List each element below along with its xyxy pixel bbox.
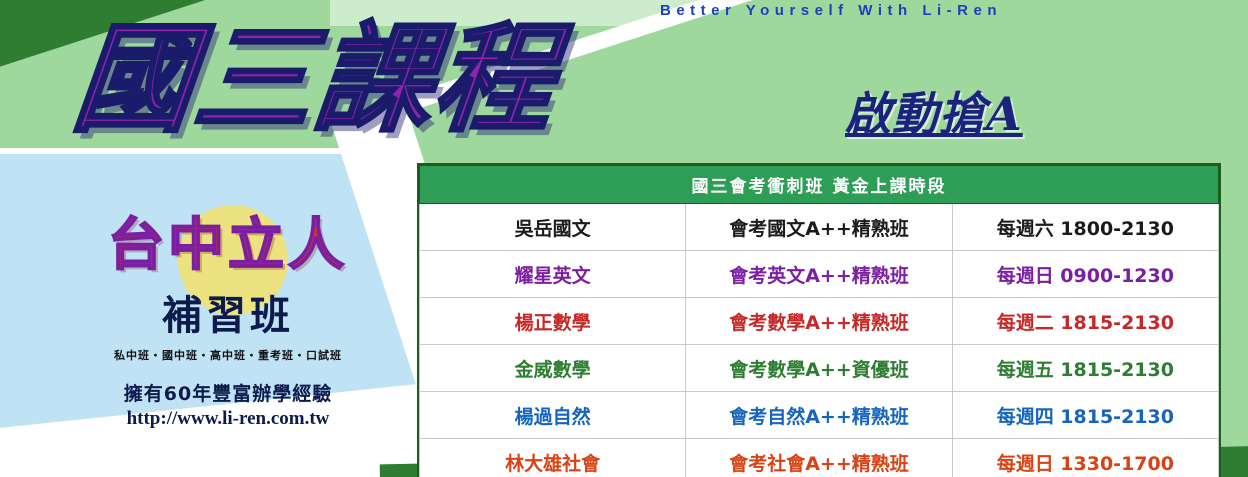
table-row: 林大雄社會會考社會A++精熟班每週日 1330-1700 [420, 439, 1219, 477]
logo-website-url[interactable]: http://www.li-ren.com.tw [28, 408, 428, 430]
logo-experience: 擁有60年豐富辦學經驗 [28, 379, 428, 406]
poster-canvas: Better Yourself With Li-Ren 國三課程 啟動搶A 台中… [0, 0, 1248, 477]
logo-name-line1: 台中立人 [28, 200, 428, 281]
table-cell-time: 每週六 1800-2130 [952, 204, 1218, 251]
table-cell-teacher: 金威數學 [420, 345, 686, 392]
schedule-table-container: 國三會考衝刺班 黃金上課時段 吳岳國文會考國文A++精熟班每週六 1800-21… [417, 163, 1221, 477]
page-subtitle: 啟動搶A [845, 78, 1023, 144]
table-cell-teacher: 楊正數學 [420, 298, 686, 345]
table-header-row: 國三會考衝刺班 黃金上課時段 [420, 166, 1219, 204]
table-cell-time: 每週五 1815-2130 [952, 345, 1218, 392]
table-cell-teacher: 林大雄社會 [420, 439, 686, 477]
logo-name-line2: 補習班 [28, 283, 428, 341]
table-cell-time: 每週日 0900-1230 [952, 251, 1218, 298]
table-cell-course: 會考數學A++精熟班 [686, 298, 952, 345]
table-cell-teacher: 耀星英文 [420, 251, 686, 298]
table-cell-teacher: 吳岳國文 [420, 204, 686, 251]
table-row: 耀星英文會考英文A++精熟班每週日 0900-1230 [420, 251, 1219, 298]
table-cell-course: 會考自然A++精熟班 [686, 392, 952, 439]
table-cell-course: 會考數學A++資優班 [686, 345, 952, 392]
table-cell-course: 會考國文A++精熟班 [686, 204, 952, 251]
table-cell-time: 每週日 1330-1700 [952, 439, 1218, 477]
schedule-table-body: 吳岳國文會考國文A++精熟班每週六 1800-2130耀星英文會考英文A++精熟… [420, 204, 1219, 477]
table-row: 吳岳國文會考國文A++精熟班每週六 1800-2130 [420, 204, 1219, 251]
table-row: 楊正數學會考數學A++精熟班每週二 1815-2130 [420, 298, 1219, 345]
table-cell-teacher: 楊過自然 [420, 392, 686, 439]
logo-class-list: 私中班・國中班・高中班・重考班・口試班 [28, 347, 428, 363]
tagline-text: Better Yourself With Li-Ren [660, 2, 1240, 19]
table-cell-course: 會考社會A++精熟班 [686, 439, 952, 477]
table-cell-time: 每週二 1815-2130 [952, 298, 1218, 345]
page-title: 國三課程 [69, 20, 561, 138]
table-row: 楊過自然會考自然A++精熟班每週四 1815-2130 [420, 392, 1219, 439]
table-cell-time: 每週四 1815-2130 [952, 392, 1218, 439]
table-header-title: 國三會考衝刺班 黃金上課時段 [420, 166, 1219, 204]
table-cell-course: 會考英文A++精熟班 [686, 251, 952, 298]
logo: 台中立人 補習班 私中班・國中班・高中班・重考班・口試班 擁有60年豐富辦學經驗… [28, 200, 428, 430]
table-row: 金威數學會考數學A++資優班每週五 1815-2130 [420, 345, 1219, 392]
schedule-table: 國三會考衝刺班 黃金上課時段 吳岳國文會考國文A++精熟班每週六 1800-21… [419, 165, 1219, 477]
